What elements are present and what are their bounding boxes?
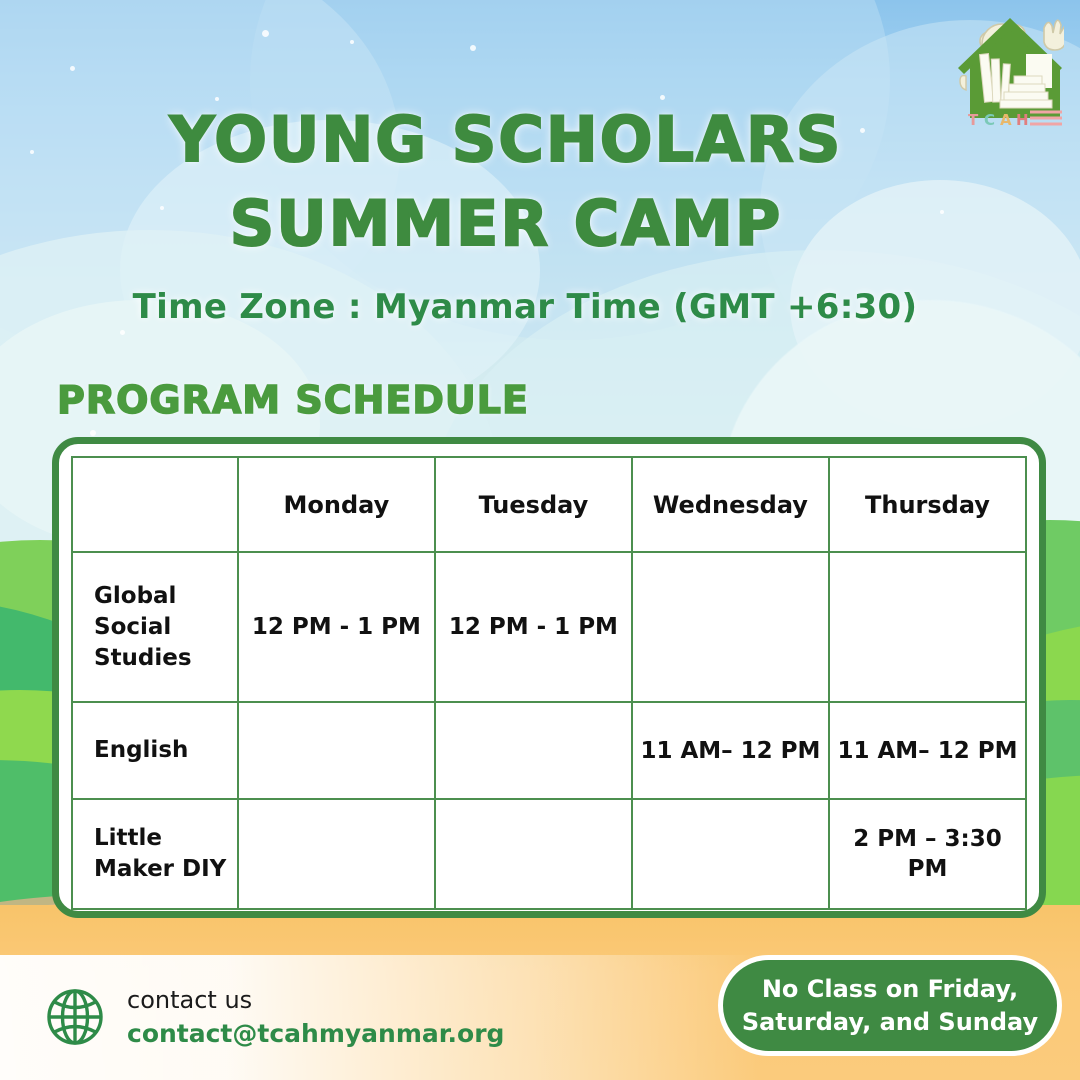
column-header-wednesday: Wednesday: [632, 457, 829, 552]
column-header-tuesday: Tuesday: [435, 457, 632, 552]
cell-little-maker-diy-wednesday: [632, 799, 829, 909]
row-label-english: English: [72, 702, 238, 799]
schedule-table-frame: Monday Tuesday Wednesday Thursday Global…: [52, 437, 1046, 918]
no-class-badge: No Class on Friday, Saturday, and Sunday: [718, 955, 1062, 1056]
column-header-monday: Monday: [238, 457, 435, 552]
cell-little-maker-diy-thursday: 2 PM – 3:30 PM: [829, 799, 1026, 909]
table-row: Global Social Studies 12 PM - 1 PM 12 PM…: [72, 552, 1026, 702]
column-header-thursday: Thursday: [829, 457, 1026, 552]
timezone-label: Time Zone : Myanmar Time (GMT +6:30): [0, 287, 1050, 327]
column-header-blank: [72, 457, 238, 552]
cell-global-social-studies-thursday: [829, 552, 1026, 702]
cell-global-social-studies-tuesday: 12 PM - 1 PM: [435, 552, 632, 702]
cell-global-social-studies-monday: 12 PM - 1 PM: [238, 552, 435, 702]
cell-english-monday: [238, 702, 435, 799]
table-row: English 11 AM– 12 PM 11 AM– 12 PM: [72, 702, 1026, 799]
contact-label: contact us: [127, 985, 504, 1017]
globe-icon: [44, 986, 106, 1048]
row-label-little-maker-diy: Little Maker DIY: [72, 799, 238, 909]
table-header-row: Monday Tuesday Wednesday Thursday: [72, 457, 1026, 552]
cell-english-wednesday: 11 AM– 12 PM: [632, 702, 829, 799]
row-label-global-social-studies: Global Social Studies: [72, 552, 238, 702]
contact-block: contact us contact@tcahmyanmar.org: [44, 985, 504, 1050]
cell-little-maker-diy-tuesday: [435, 799, 632, 909]
no-class-line-1: No Class on Friday,: [742, 973, 1038, 1006]
cell-english-thursday: 11 AM– 12 PM: [829, 702, 1026, 799]
title-line-1: YOUNG SCHOLARS: [170, 103, 843, 176]
cell-little-maker-diy-monday: [238, 799, 435, 909]
schedule-table: Monday Tuesday Wednesday Thursday Global…: [71, 456, 1027, 910]
section-title: PROGRAM SCHEDULE: [57, 378, 529, 422]
no-class-line-2: Saturday, and Sunday: [742, 1006, 1038, 1039]
table-row: Little Maker DIY 2 PM – 3:30 PM: [72, 799, 1026, 909]
cell-english-tuesday: [435, 702, 632, 799]
title-line-2: SUMMER CAMP: [0, 182, 1012, 266]
page-title: YOUNG SCHOLARS SUMMER CAMP: [0, 98, 1012, 266]
poster-content: T C A H YOUNG SCHOLARS SUMMER CAMP Time …: [0, 0, 1080, 1080]
cell-global-social-studies-wednesday: [632, 552, 829, 702]
contact-email[interactable]: contact@tcahmyanmar.org: [127, 1017, 504, 1050]
svg-text:H: H: [1016, 111, 1032, 129]
